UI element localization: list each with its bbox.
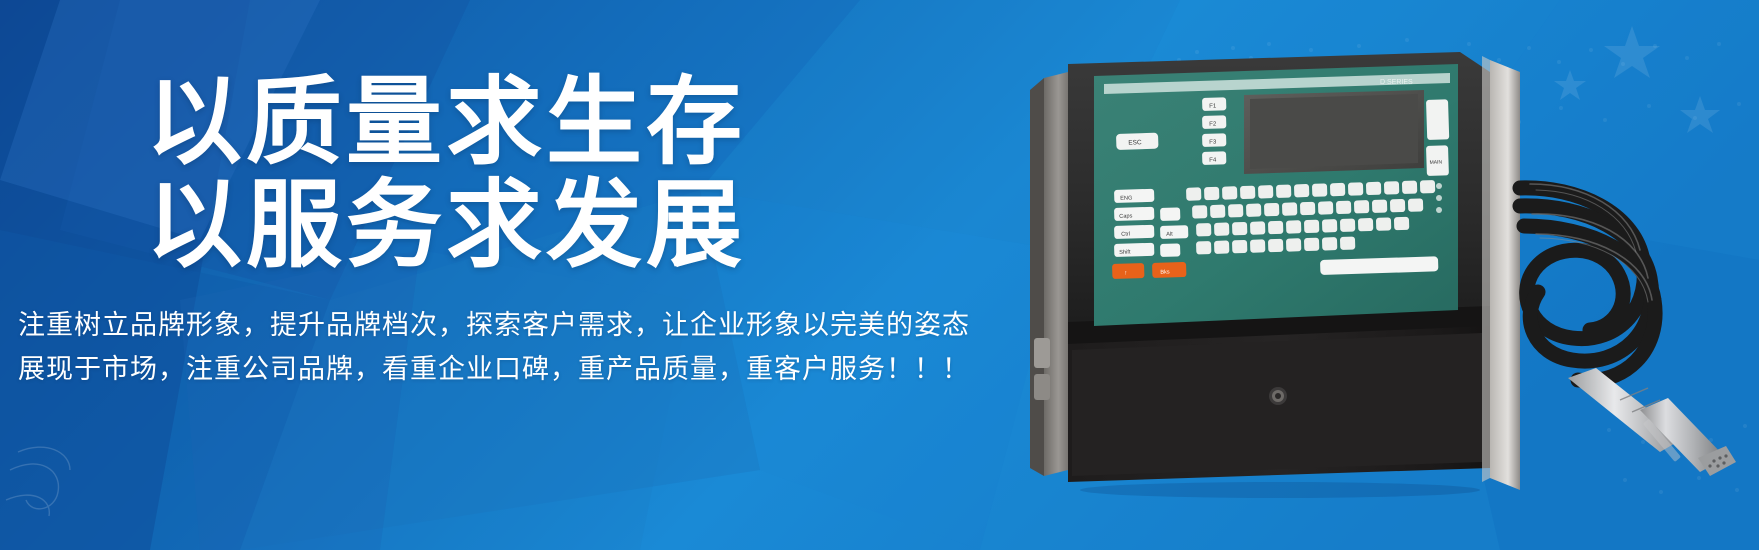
panel-brand-label: D SERIES	[1380, 79, 1413, 86]
svg-text:Ctrl: Ctrl	[1121, 232, 1130, 238]
printer-right-column	[1482, 56, 1520, 490]
body-copy: 注重树立品牌形象，提升品牌档次，探索客户需求，让企业形象以完美的姿态 展现于市场…	[18, 303, 1008, 391]
printer-lcd-display	[1244, 90, 1424, 174]
printhead-conduit-cable	[1520, 184, 1655, 381]
headline-line-1: 以质量求生存	[146, 69, 746, 176]
promo-banner: 以质量求生存 以服务求发展 注重树立品牌形象，提升品牌档次，探索客户需求，让企业…	[0, 0, 1759, 550]
svg-text:MAIN: MAIN	[1429, 159, 1442, 165]
svg-text:Shift: Shift	[1119, 249, 1131, 255]
svg-text:ESC: ESC	[1128, 139, 1142, 146]
headline-line-2: 以服务求发展	[146, 175, 1008, 278]
svg-text:F4: F4	[1209, 158, 1217, 164]
svg-text:↑: ↑	[1124, 271, 1127, 277]
svg-text:F1: F1	[1209, 104, 1217, 110]
panel-indicator-lights	[1436, 183, 1442, 213]
svg-text:Alt: Alt	[1166, 232, 1173, 238]
printer-control-panel: D SERIES ESC F1 F2 F3 F4	[1094, 64, 1458, 326]
body-copy-line-1: 注重树立品牌形象，提升品牌档次，探索客户需求，让企业形象以完美的姿态	[18, 303, 1008, 347]
printer-cabinet	[1068, 326, 1490, 482]
panel-side-keys: MAIN	[1426, 99, 1449, 176]
headline: 以质量求生存 以服务求发展	[18, 72, 1008, 277]
printhead	[1568, 368, 1736, 476]
svg-text:Bks: Bks	[1160, 269, 1170, 275]
body-copy-line-2: 展现于市场，注重公司品牌，看重企业口碑，重产品质量，重客户服务！！！	[18, 347, 1008, 391]
banner-copy-block: 以质量求生存 以服务求发展 注重树立品牌形象，提升品牌档次，探索客户需求，让企业…	[18, 72, 1008, 391]
product-image-inkjet-printer: D SERIES ESC F1 F2 F3 F4	[1020, 38, 1740, 518]
svg-text:ENG: ENG	[1120, 195, 1132, 201]
panel-esc-key: ESC	[1116, 133, 1158, 150]
svg-text:F2: F2	[1209, 122, 1217, 128]
svg-text:F3: F3	[1209, 140, 1217, 146]
svg-text:Caps: Caps	[1119, 213, 1132, 219]
